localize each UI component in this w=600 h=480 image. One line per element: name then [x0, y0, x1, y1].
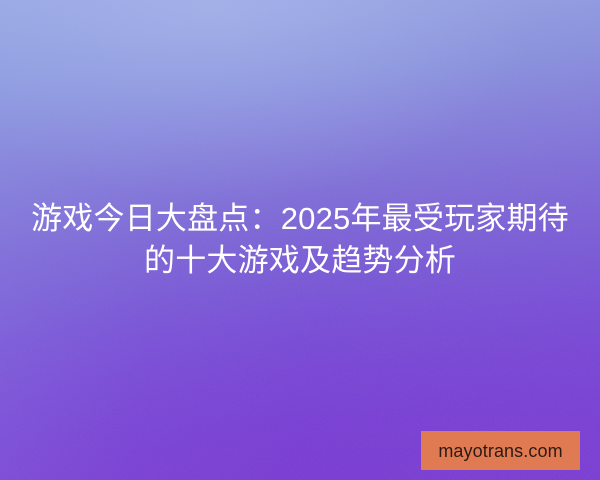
- watermark-badge[interactable]: mayotrans.com: [421, 431, 580, 470]
- watermark-label: mayotrans.com: [438, 442, 562, 460]
- title-line-1: 游戏今日大盘点：2025年最受玩家期待: [22, 198, 578, 240]
- title-card: 游戏今日大盘点：2025年最受玩家期待 的十大游戏及趋势分析 mayotrans…: [0, 0, 600, 480]
- title-line-2: 的十大游戏及趋势分析: [22, 240, 578, 282]
- page-title: 游戏今日大盘点：2025年最受玩家期待 的十大游戏及趋势分析: [0, 198, 600, 282]
